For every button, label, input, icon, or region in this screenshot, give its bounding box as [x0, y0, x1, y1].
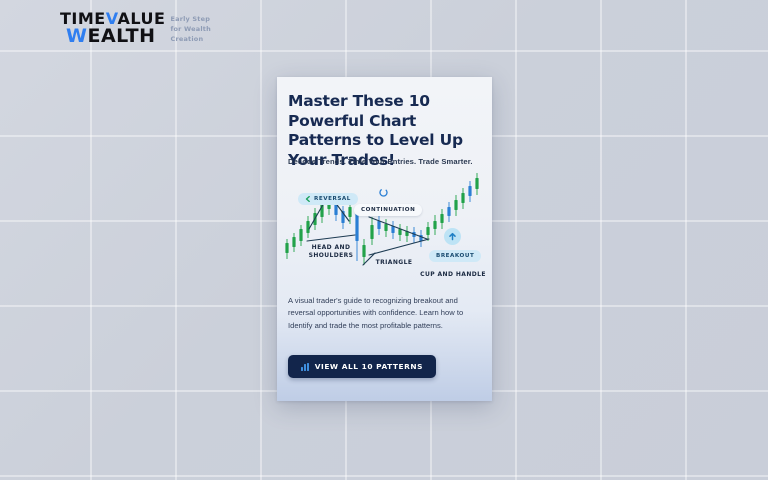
- candle-body: [370, 225, 373, 239]
- candle-body: [348, 207, 351, 217]
- badge-breakout-label: BREAKOUT: [436, 253, 474, 259]
- badge-continuation[interactable]: CONTINUATION: [354, 204, 422, 216]
- brand-tagline: Early Step for Wealth Creation: [170, 12, 210, 45]
- candle-body: [398, 229, 401, 235]
- grid-line-vertical: [515, 0, 517, 480]
- candle-body: [454, 200, 457, 210]
- pattern-label-triangle: TRIANGLE: [369, 259, 419, 267]
- badge-continuation-label: CONTINUATION: [361, 207, 415, 213]
- candle-body: [433, 221, 436, 229]
- candle-body: [447, 207, 450, 216]
- arrow-up-icon: [444, 228, 461, 245]
- candle-body: [461, 193, 464, 203]
- candle-body: [292, 237, 295, 247]
- candle-body: [384, 224, 387, 231]
- grid-line-vertical: [90, 0, 92, 480]
- candle-body: [377, 221, 380, 229]
- candle-body: [426, 227, 429, 235]
- candle-body: [299, 229, 302, 241]
- badge-reversal-label: REVERSAL: [314, 196, 351, 202]
- brand-w: W: [66, 25, 87, 47]
- badge-reversal[interactable]: REVERSAL: [298, 193, 358, 205]
- trendline: [307, 235, 355, 241]
- trendline: [369, 239, 429, 255]
- grid-line-vertical: [175, 0, 177, 480]
- brand-ealth: EALTH: [87, 25, 155, 47]
- promo-card: Master These 10 Powerful Chart Patterns …: [277, 77, 492, 401]
- candle-body: [355, 213, 358, 241]
- brand-logo: TIMEVALUE WEALTH Early Step for Wealth C…: [60, 12, 211, 45]
- pattern-label-head-and-shoulders: HEAD AND SHOULDERS: [303, 244, 359, 260]
- card-subheadline: Decode Trends. Time Your Entries. Trade …: [288, 157, 488, 166]
- candle-body: [362, 245, 365, 257]
- candle-body: [285, 243, 288, 253]
- candle-body: [440, 214, 443, 223]
- badge-breakout[interactable]: BREAKOUT: [429, 250, 481, 262]
- bar-chart-icon: [301, 363, 309, 371]
- pattern-label-cup-and-handle: CUP AND HANDLE: [417, 271, 489, 279]
- cta-label: VIEW ALL 10 PATTERNS: [315, 362, 423, 371]
- view-all-patterns-button[interactable]: VIEW ALL 10 PATTERNS: [288, 355, 436, 378]
- candle-body: [468, 186, 471, 196]
- grid-line-horizontal: [0, 475, 768, 477]
- grid-line-vertical: [685, 0, 687, 480]
- brand-wordmark: TIMEVALUE WEALTH: [60, 12, 165, 45]
- refresh-circle-icon: [375, 184, 392, 201]
- candle-body: [306, 221, 309, 233]
- grid-line-vertical: [260, 0, 262, 480]
- brand-line-wealth: WEALTH: [66, 28, 165, 45]
- candlestick-chart: REVERSAL CONTINUATION BREAKOUT HEAD AND …: [277, 169, 492, 287]
- arrow-left-icon: [305, 196, 311, 202]
- candle-body: [475, 178, 478, 189]
- grid-line-vertical: [600, 0, 602, 480]
- card-body-text: A visual trader's guide to recognizing b…: [288, 295, 484, 332]
- grid-line-horizontal: [0, 50, 768, 52]
